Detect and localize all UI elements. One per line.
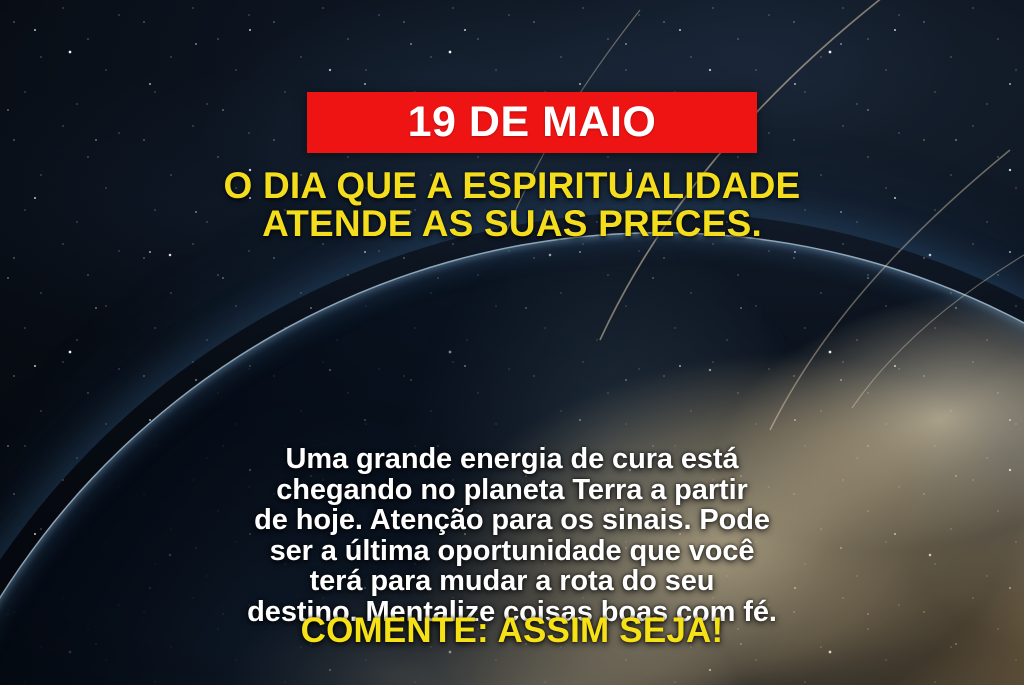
date-banner: 19 DE MAIO (307, 92, 757, 153)
headline: O DIA QUE A ESPIRITUALIDADE ATENDE AS SU… (0, 167, 1024, 244)
date-banner-label: 19 DE MAIO (408, 101, 657, 144)
poster-content: 19 DE MAIO O DIA QUE A ESPIRITUALIDADE A… (0, 0, 1024, 685)
body-copy-line-5: terá para mudar a rota do seu (0, 566, 1024, 597)
headline-line-1: O DIA QUE A ESPIRITUALIDADE (0, 167, 1024, 205)
body-copy: Uma grande energia de cura está chegando… (0, 444, 1024, 628)
call-to-action-text: COMENTE: ASSIM SEJA! (0, 613, 1024, 648)
headline-line-2: ATENDE AS SUAS PRECES. (0, 205, 1024, 243)
body-copy-line-4: ser a última oportunidade que você (0, 536, 1024, 567)
poster-canvas: 19 DE MAIO O DIA QUE A ESPIRITUALIDADE A… (0, 0, 1024, 685)
body-copy-line-1: Uma grande energia de cura está (0, 444, 1024, 475)
body-copy-line-2: chegando no planeta Terra a partir (0, 475, 1024, 506)
body-copy-line-3: de hoje. Atenção para os sinais. Pode (0, 505, 1024, 536)
